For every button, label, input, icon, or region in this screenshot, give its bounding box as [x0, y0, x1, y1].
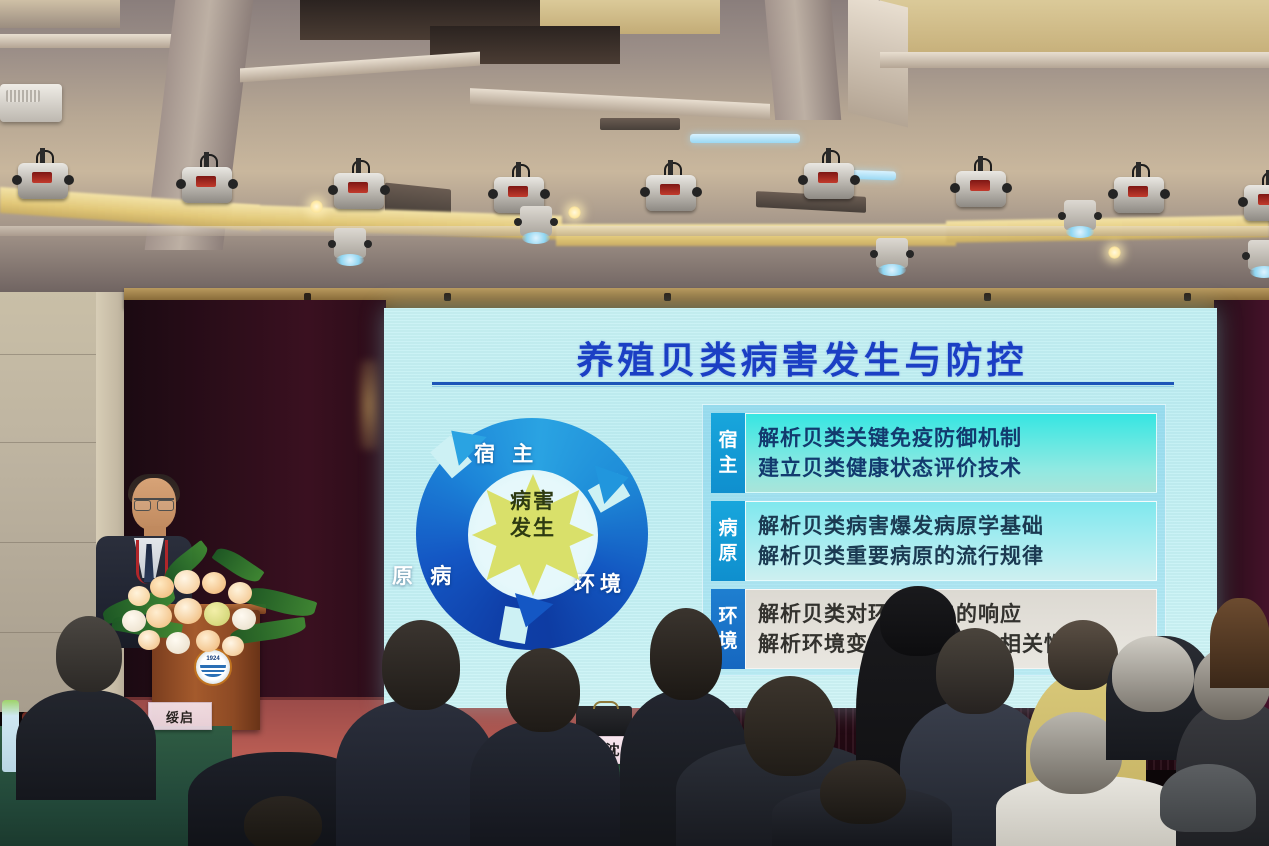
tube-light: [690, 134, 800, 143]
row-tag-host: 宿 主: [711, 413, 745, 493]
tag-char-2: 主: [718, 453, 737, 478]
audience-head-grey: [1112, 636, 1194, 712]
glasses-icon: [134, 498, 174, 510]
down-light: [330, 228, 370, 272]
content-row-pathogen: 病 原 解析贝类病害爆发病原学基础 解析贝类重要病原的流行规律: [711, 501, 1157, 581]
stage-spotlight: [952, 156, 1010, 220]
placard-name: 绥启: [166, 707, 194, 726]
conference-photo: 养殖贝类病害发生与防控 宿 主 原 病 环境 病害 发生: [0, 0, 1269, 846]
light-bulb: [310, 200, 323, 213]
row-text-pathogen: 解析贝类病害爆发病原学基础 解析贝类重要病原的流行规律: [745, 501, 1157, 581]
audience-head: [744, 676, 836, 776]
title-underline: [432, 382, 1174, 385]
title-underline-secondary: [432, 386, 1174, 387]
audience-shoulders: [16, 690, 156, 800]
audience-head: [650, 608, 722, 700]
name-placard: 绥启: [148, 702, 212, 730]
row-tag-pathogen: 病 原: [711, 501, 745, 581]
audience-head: [244, 796, 322, 846]
down-light: [872, 238, 912, 282]
audience-shoulders: [1210, 598, 1269, 688]
audience-head: [936, 628, 1014, 714]
stage-spotlight: [14, 148, 72, 212]
star-line-1: 病害: [472, 488, 594, 515]
stage-spotlight: [1110, 162, 1168, 226]
cycle-label-pathogen: 原 病: [392, 560, 456, 590]
row-line-2: 建立贝类健康状态评价技术: [758, 453, 1156, 483]
audience-head: [506, 648, 580, 732]
content-row-host: 宿 主 解析贝类关键免疫防御机制 建立贝类健康状态评价技术: [711, 413, 1157, 493]
audience-head: [820, 760, 906, 824]
cycle-label-host: 宿 主: [474, 438, 538, 468]
ceiling: [0, 0, 1269, 296]
audience-shoulders: [470, 720, 620, 846]
center-star-text: 病害 发生: [472, 488, 594, 542]
row-text-host: 解析贝类关键免疫防御机制 建立贝类健康状态评价技术: [745, 413, 1157, 493]
tag-char-1: 宿: [718, 428, 737, 453]
stage-spotlight: [800, 148, 858, 212]
cycle-label-environment: 环境: [574, 568, 626, 598]
tag-char-1: 病: [718, 516, 737, 541]
light-bulb: [568, 206, 581, 219]
stage-spotlight: [1240, 170, 1269, 234]
audience-cap: [1160, 764, 1256, 832]
stage-spotlight: [178, 152, 236, 216]
stage-spotlight: [330, 158, 388, 222]
audience-head: [56, 616, 122, 692]
curtain-highlight: [358, 360, 380, 450]
emblem-wave-icon: [200, 665, 226, 677]
tag-char-2: 原: [718, 541, 737, 566]
slide-title: 养殖贝类病害发生与防控: [432, 330, 1172, 384]
down-light: [1060, 200, 1100, 244]
down-light: [516, 206, 556, 250]
audience-head: [382, 620, 460, 710]
ceiling-projector: [0, 84, 62, 122]
row-line-1: 解析贝类病害爆发病原学基础: [758, 511, 1156, 541]
light-bulb: [1108, 246, 1121, 259]
down-light: [1244, 240, 1269, 284]
star-line-2: 发生: [472, 515, 594, 542]
flower-arrangement: [104, 552, 304, 664]
row-line-2: 解析贝类重要病原的流行规律: [758, 541, 1156, 571]
row-line-1: 解析贝类关键免疫防御机制: [758, 423, 1156, 453]
stage-spotlight: [642, 160, 700, 224]
disease-cycle-diagram: 宿 主 原 病 环境 病害 发生: [398, 412, 683, 662]
tag-char-1: 环: [718, 604, 737, 629]
